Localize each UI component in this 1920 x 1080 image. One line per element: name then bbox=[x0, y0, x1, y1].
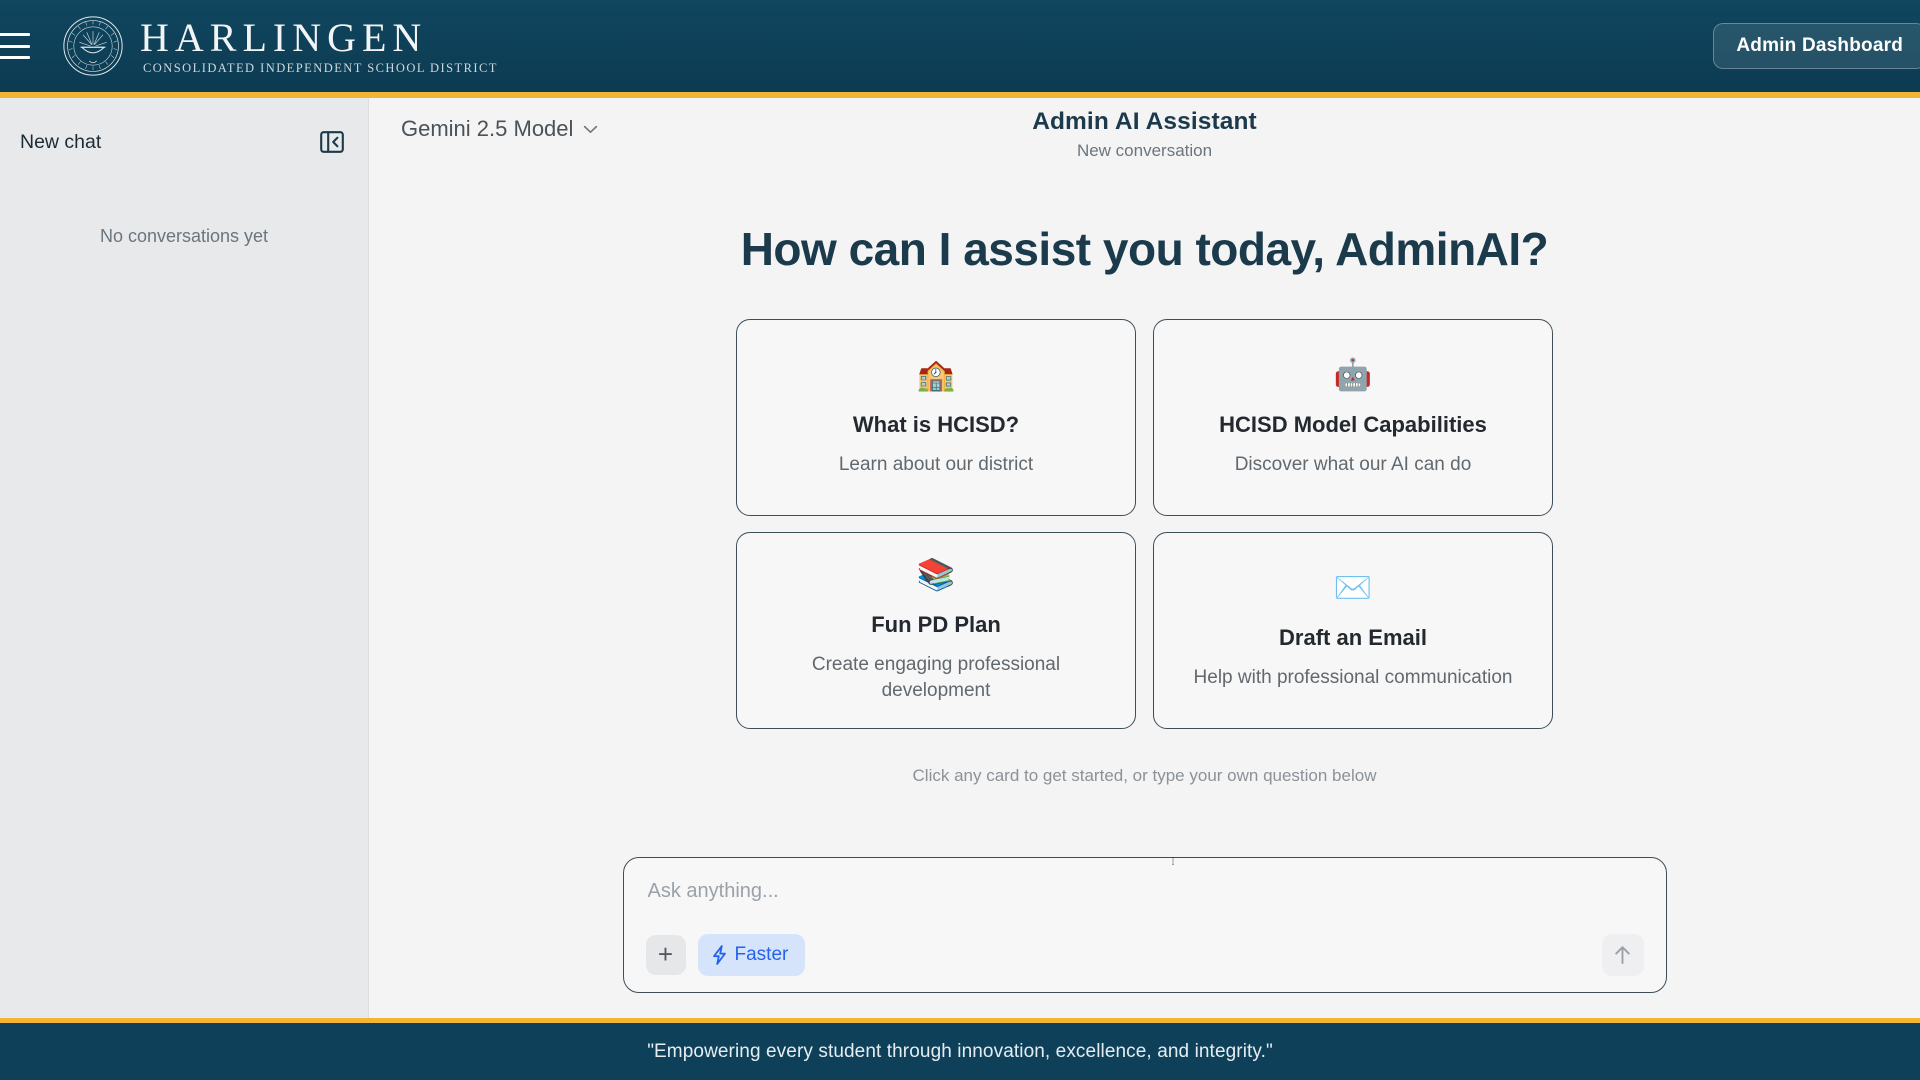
welcome-content: How can I assist you today, AdminAI? 🏫 W… bbox=[369, 170, 1920, 822]
plus-icon: + bbox=[658, 941, 673, 967]
brand-lockup: HARLINGEN CONSOLIDATED INDEPENDENT SCHOO… bbox=[62, 15, 498, 77]
main-panel: Gemini 2.5 Model Admin AI Assistant New … bbox=[369, 98, 1920, 1018]
body-area: New chat No conversations yet Gemini 2.5… bbox=[0, 98, 1920, 1018]
panel-collapse-left-glyph bbox=[320, 131, 344, 153]
send-message-button[interactable] bbox=[1602, 934, 1644, 976]
hamburger-line bbox=[0, 56, 30, 59]
suggestion-hint: Click any card to get started, or type y… bbox=[913, 766, 1377, 786]
composer-toolbar: + Faster bbox=[646, 934, 1644, 976]
hamburger-line bbox=[0, 33, 30, 36]
suggestion-card-desc: Create engaging professional development bbox=[766, 652, 1106, 703]
hero-heading: How can I assist you today, AdminAI? bbox=[741, 222, 1549, 276]
speed-mode-toggle[interactable]: Faster bbox=[698, 934, 806, 976]
text-cursor-icon bbox=[1172, 844, 1174, 878]
arrow-up-icon bbox=[1612, 944, 1633, 966]
brand-text: HARLINGEN CONSOLIDATED INDEPENDENT SCHOO… bbox=[140, 17, 498, 76]
app-root: HARLINGEN CONSOLIDATED INDEPENDENT SCHOO… bbox=[0, 0, 1920, 1080]
add-attachment-button[interactable]: + bbox=[646, 935, 686, 975]
sidebar-header: New chat bbox=[0, 120, 368, 164]
chat-input[interactable] bbox=[646, 880, 1644, 903]
suggestion-card-desc: Learn about our district bbox=[839, 452, 1033, 478]
brand-subtitle: CONSOLIDATED INDEPENDENT SCHOOL DISTRICT bbox=[140, 61, 498, 76]
suggestion-card-draft-an-email[interactable]: ✉️ Draft an Email Help with professional… bbox=[1153, 532, 1553, 729]
hamburger-icon[interactable] bbox=[0, 33, 30, 59]
robot-icon: 🤖 bbox=[1334, 359, 1373, 390]
suggestion-card-model-capabilities[interactable]: 🤖 HCISD Model Capabilities Discover what… bbox=[1153, 319, 1553, 516]
suggestion-card-title: Fun PD Plan bbox=[871, 612, 1001, 638]
composer-zone: + Faster bbox=[369, 822, 1920, 1019]
chevron-down-icon bbox=[583, 125, 598, 134]
suggestion-card-desc: Help with professional communication bbox=[1194, 665, 1513, 691]
conversation-header: Admin AI Assistant New conversation bbox=[845, 108, 1445, 161]
suggestion-card-desc: Discover what our AI can do bbox=[1235, 452, 1472, 478]
suggestion-cards-grid: 🏫 What is HCISD? Learn about our distric… bbox=[736, 319, 1553, 729]
page-title: Admin AI Assistant bbox=[845, 108, 1445, 136]
main-topbar: Gemini 2.5 Model Admin AI Assistant New … bbox=[369, 98, 1920, 170]
sidebar-empty-state: No conversations yet bbox=[0, 226, 368, 247]
admin-dashboard-button[interactable]: Admin Dashboard bbox=[1713, 23, 1920, 69]
lightning-bolt-icon bbox=[711, 945, 728, 965]
new-chat-button[interactable]: New chat bbox=[20, 131, 101, 154]
footer-tagline: "Empowering every student through innova… bbox=[647, 1041, 1273, 1063]
suggestion-card-what-is-hcisd[interactable]: 🏫 What is HCISD? Learn about our distric… bbox=[736, 319, 1136, 516]
message-composer[interactable]: + Faster bbox=[623, 857, 1667, 993]
conversation-status: New conversation bbox=[845, 141, 1445, 161]
model-selector-label: Gemini 2.5 Model bbox=[401, 116, 573, 142]
conversation-sidebar: New chat No conversations yet bbox=[0, 98, 369, 1018]
suggestion-card-title: What is HCISD? bbox=[853, 412, 1019, 438]
speed-mode-label: Faster bbox=[735, 944, 789, 966]
app-header: HARLINGEN CONSOLIDATED INDEPENDENT SCHOO… bbox=[0, 0, 1920, 98]
panel-collapse-left-icon[interactable] bbox=[318, 129, 346, 155]
suggestion-card-title: HCISD Model Capabilities bbox=[1219, 412, 1487, 438]
books-icon: 📚 bbox=[917, 559, 956, 590]
hamburger-line bbox=[0, 45, 30, 48]
brand-name: HARLINGEN bbox=[140, 17, 498, 59]
app-footer: "Empowering every student through innova… bbox=[0, 1018, 1920, 1080]
suggestion-card-title: Draft an Email bbox=[1279, 625, 1427, 651]
suggestion-card-fun-pd-plan[interactable]: 📚 Fun PD Plan Create engaging profession… bbox=[736, 532, 1136, 729]
model-selector[interactable]: Gemini 2.5 Model bbox=[401, 116, 598, 142]
school-building-icon: 🏫 bbox=[917, 359, 956, 390]
envelope-icon: ✉️ bbox=[1334, 572, 1373, 603]
district-seal-icon bbox=[62, 15, 124, 77]
